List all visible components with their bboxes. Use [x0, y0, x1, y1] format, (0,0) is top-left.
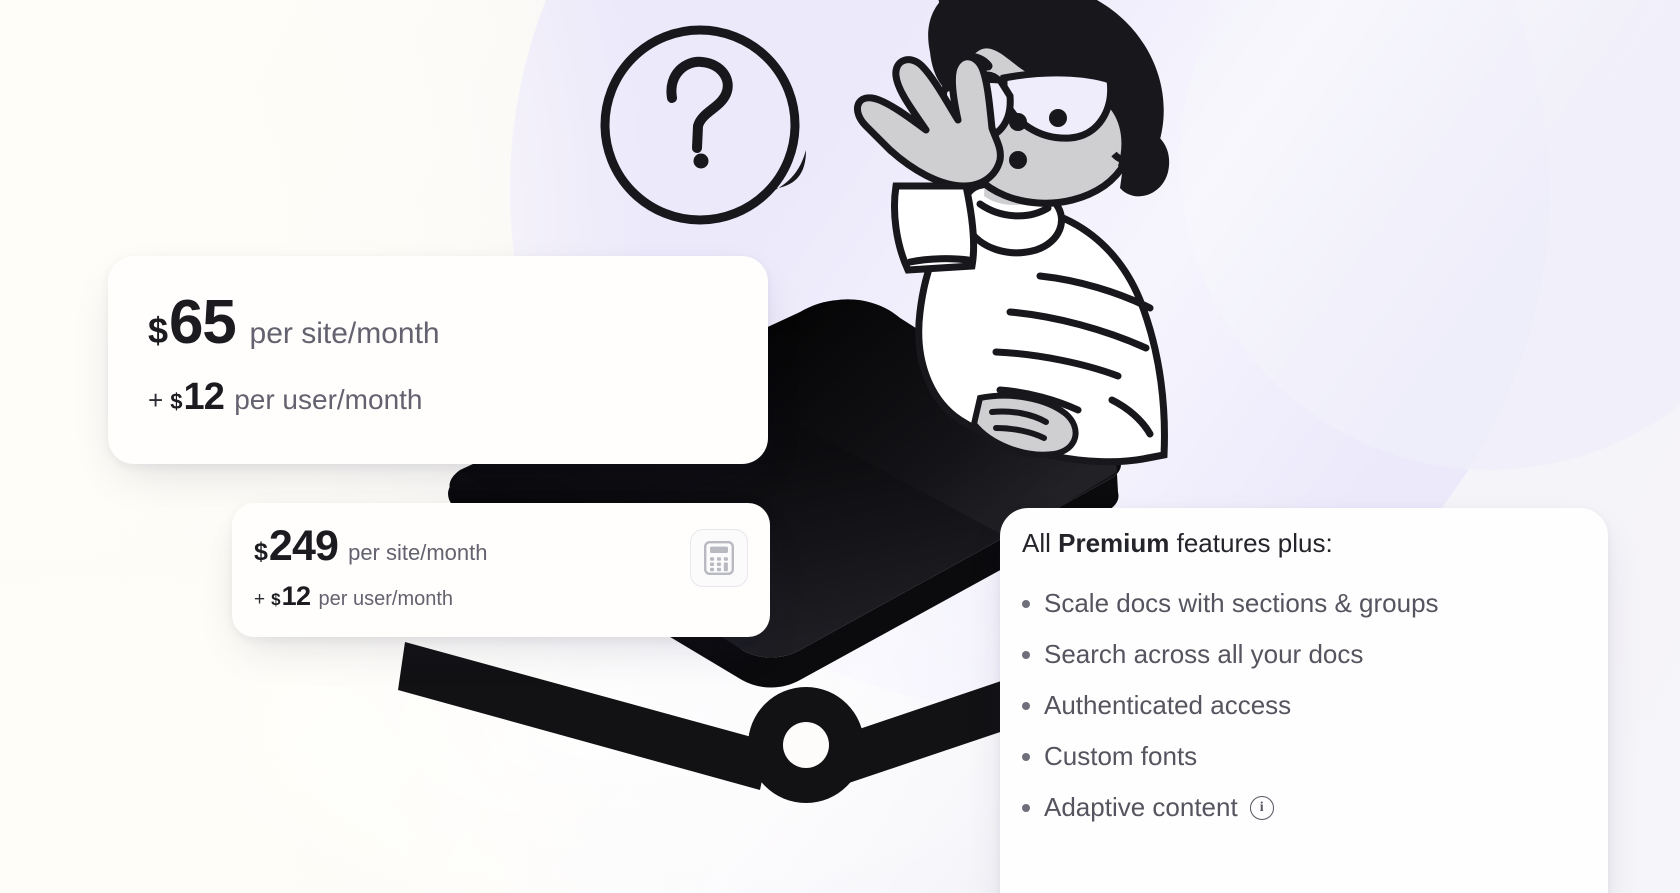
feature-label: Search across all your docs — [1044, 639, 1363, 670]
currency-symbol: $ — [254, 540, 268, 565]
price-row-user: + $ 12 per user/month — [254, 583, 453, 610]
list-item: Adaptive content i — [1022, 782, 1592, 833]
calculator-icon — [704, 541, 734, 575]
plus-sign: + — [254, 590, 265, 609]
price-amount: 12 — [183, 378, 224, 416]
price-card-enterprise[interactable]: $ 249 per site/month + $ 12 per user/mon… — [232, 503, 770, 637]
price-amount: 12 — [282, 583, 311, 610]
bullet-icon — [1022, 651, 1030, 659]
title-prefix: All — [1022, 528, 1058, 558]
price-period: per user/month — [234, 386, 422, 414]
currency-symbol: $ — [271, 591, 280, 608]
title-suffix: features plus: — [1169, 528, 1332, 558]
list-item: Custom fonts — [1022, 731, 1592, 782]
bullet-icon — [1022, 702, 1030, 710]
features-list: Scale docs with sections & groups Search… — [1022, 578, 1592, 833]
feature-label: Scale docs with sections & groups — [1044, 588, 1439, 619]
calculator-button[interactable] — [690, 529, 748, 587]
price-row-site: $ 249 per site/month — [254, 525, 487, 568]
bullet-icon — [1022, 600, 1030, 608]
features-panel-title: All Premium features plus: — [1022, 528, 1333, 559]
price-row-user: + $ 12 per user/month — [148, 378, 423, 416]
features-panel: All Premium features plus: Scale docs wi… — [1000, 508, 1608, 893]
price-period: per site/month — [250, 319, 440, 349]
currency-symbol: $ — [170, 391, 182, 413]
currency-symbol: $ — [148, 313, 168, 349]
feature-label: Authenticated access — [1044, 690, 1291, 721]
stand-hub-hole — [783, 722, 829, 768]
list-item: Authenticated access — [1022, 680, 1592, 731]
bullet-icon — [1022, 804, 1030, 812]
price-period: per site/month — [348, 542, 487, 564]
plus-sign: + — [148, 387, 163, 413]
feature-label: Custom fonts — [1044, 741, 1197, 772]
list-item: Scale docs with sections & groups — [1022, 578, 1592, 629]
title-plan-name: Premium — [1058, 528, 1169, 558]
illustration-stage: $ 65 per site/month + $ 12 per user/mont… — [0, 0, 1680, 893]
price-card-premium[interactable]: $ 65 per site/month + $ 12 per user/mont… — [108, 256, 768, 464]
info-circle-icon[interactable]: i — [1250, 796, 1274, 820]
list-item: Search across all your docs — [1022, 629, 1592, 680]
price-amount: 249 — [269, 525, 338, 568]
price-row-site: $ 65 per site/month — [148, 292, 440, 354]
bullet-icon — [1022, 753, 1030, 761]
price-amount: 65 — [169, 292, 235, 354]
price-period: per user/month — [319, 589, 454, 609]
feature-label: Adaptive content — [1044, 792, 1238, 823]
question-speech-bubble — [605, 30, 806, 220]
